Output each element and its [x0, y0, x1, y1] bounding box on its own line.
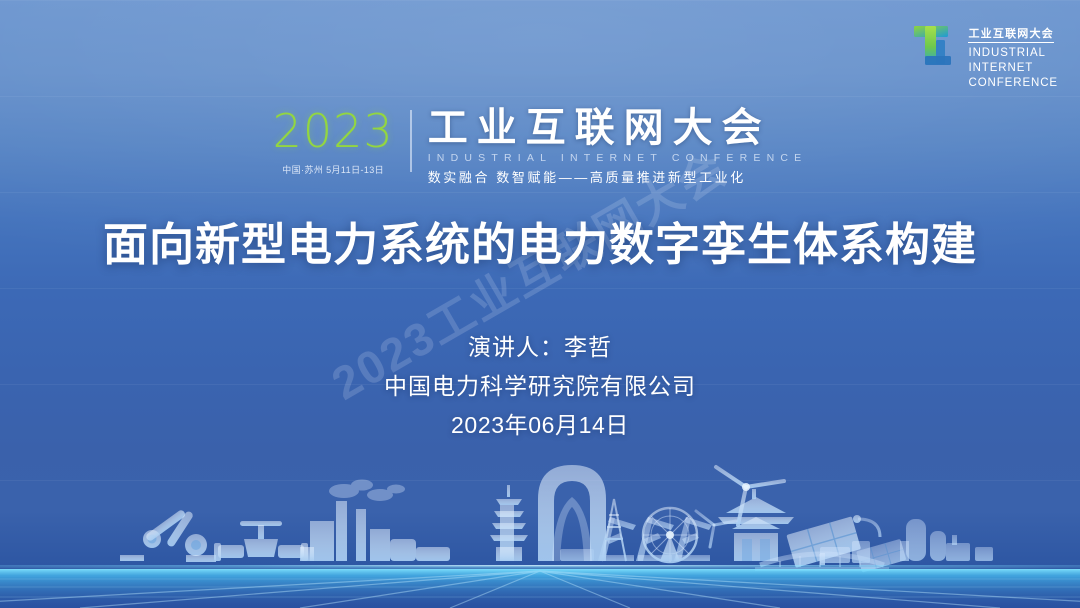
page-title: 面向新型电力系统的电力数字孪生体系构建	[0, 218, 1080, 271]
industrial-internet-t-logo-icon	[911, 22, 959, 76]
ground-plane	[0, 569, 1080, 608]
conference-logo-lockup: 工业互联网大会 INDUSTRIAL INTERNET CONFERENCE	[911, 22, 1058, 92]
industrial-valve-icon	[214, 521, 308, 561]
industrial-skyline-scene	[0, 443, 1080, 608]
storage-tank-icon	[900, 519, 993, 561]
conference-name-block: 工业互联网大会 INDUSTRIAL INTERNET CONFERENCE 数…	[428, 108, 808, 186]
presentation-date: 2023年06月14日	[0, 406, 1080, 445]
solar-panel-icon	[786, 515, 906, 573]
factory-smokestacks-icon	[300, 480, 450, 562]
conference-slogan: 数实融合 数智赋能——高质量推进新型工业化	[428, 167, 808, 186]
pagoda-icon	[490, 485, 528, 561]
chinese-pavilion-icon	[718, 489, 794, 561]
speaker-name-line: 演讲人：李哲	[0, 328, 1080, 367]
title-block: 面向新型电力系统的电力数字孪生体系构建	[0, 218, 1080, 271]
conference-place-date: 中国·苏州 5月11日-13日	[282, 163, 384, 176]
header-divider	[410, 110, 412, 172]
conference-header-lockup: 2023 中国·苏州 5月11日-13日 工业互联网大会 INDUSTRIAL …	[0, 108, 1080, 186]
logo-english-name: INDUSTRIAL INTERNET CONFERENCE	[968, 46, 1058, 92]
robot-arm-icon	[120, 509, 216, 562]
logo-english-line-2: INTERNET	[968, 61, 1058, 76]
gate-of-the-orient-icon	[538, 465, 606, 561]
conference-name-chinese: 工业互联网大会	[428, 108, 808, 149]
conference-year-block: 2023 中国·苏州 5月11日-13日	[273, 108, 410, 186]
presentation-slide: 工业互联网大会 INDUSTRIAL INTERNET CONFERENCE 2…	[0, 0, 1080, 608]
logo-chinese-name: 工业互联网大会	[968, 28, 1053, 43]
conference-year: 2023	[273, 108, 394, 154]
speaker-organization: 中国电力科学研究院有限公司	[0, 367, 1080, 406]
ferris-wheel-icon	[643, 508, 697, 562]
conference-name-english: INDUSTRIAL INTERNET CONFERENCE	[428, 152, 808, 164]
logo-english-line-1: INDUSTRIAL	[968, 46, 1058, 61]
logo-english-line-3: CONFERENCE	[968, 76, 1058, 91]
skyline-svg	[0, 443, 1080, 608]
speaker-info-block: 演讲人：李哲 中国电力科学研究院有限公司 2023年06月14日	[0, 328, 1080, 445]
logo-text-block: 工业互联网大会 INDUSTRIAL INTERNET CONFERENCE	[968, 22, 1058, 92]
